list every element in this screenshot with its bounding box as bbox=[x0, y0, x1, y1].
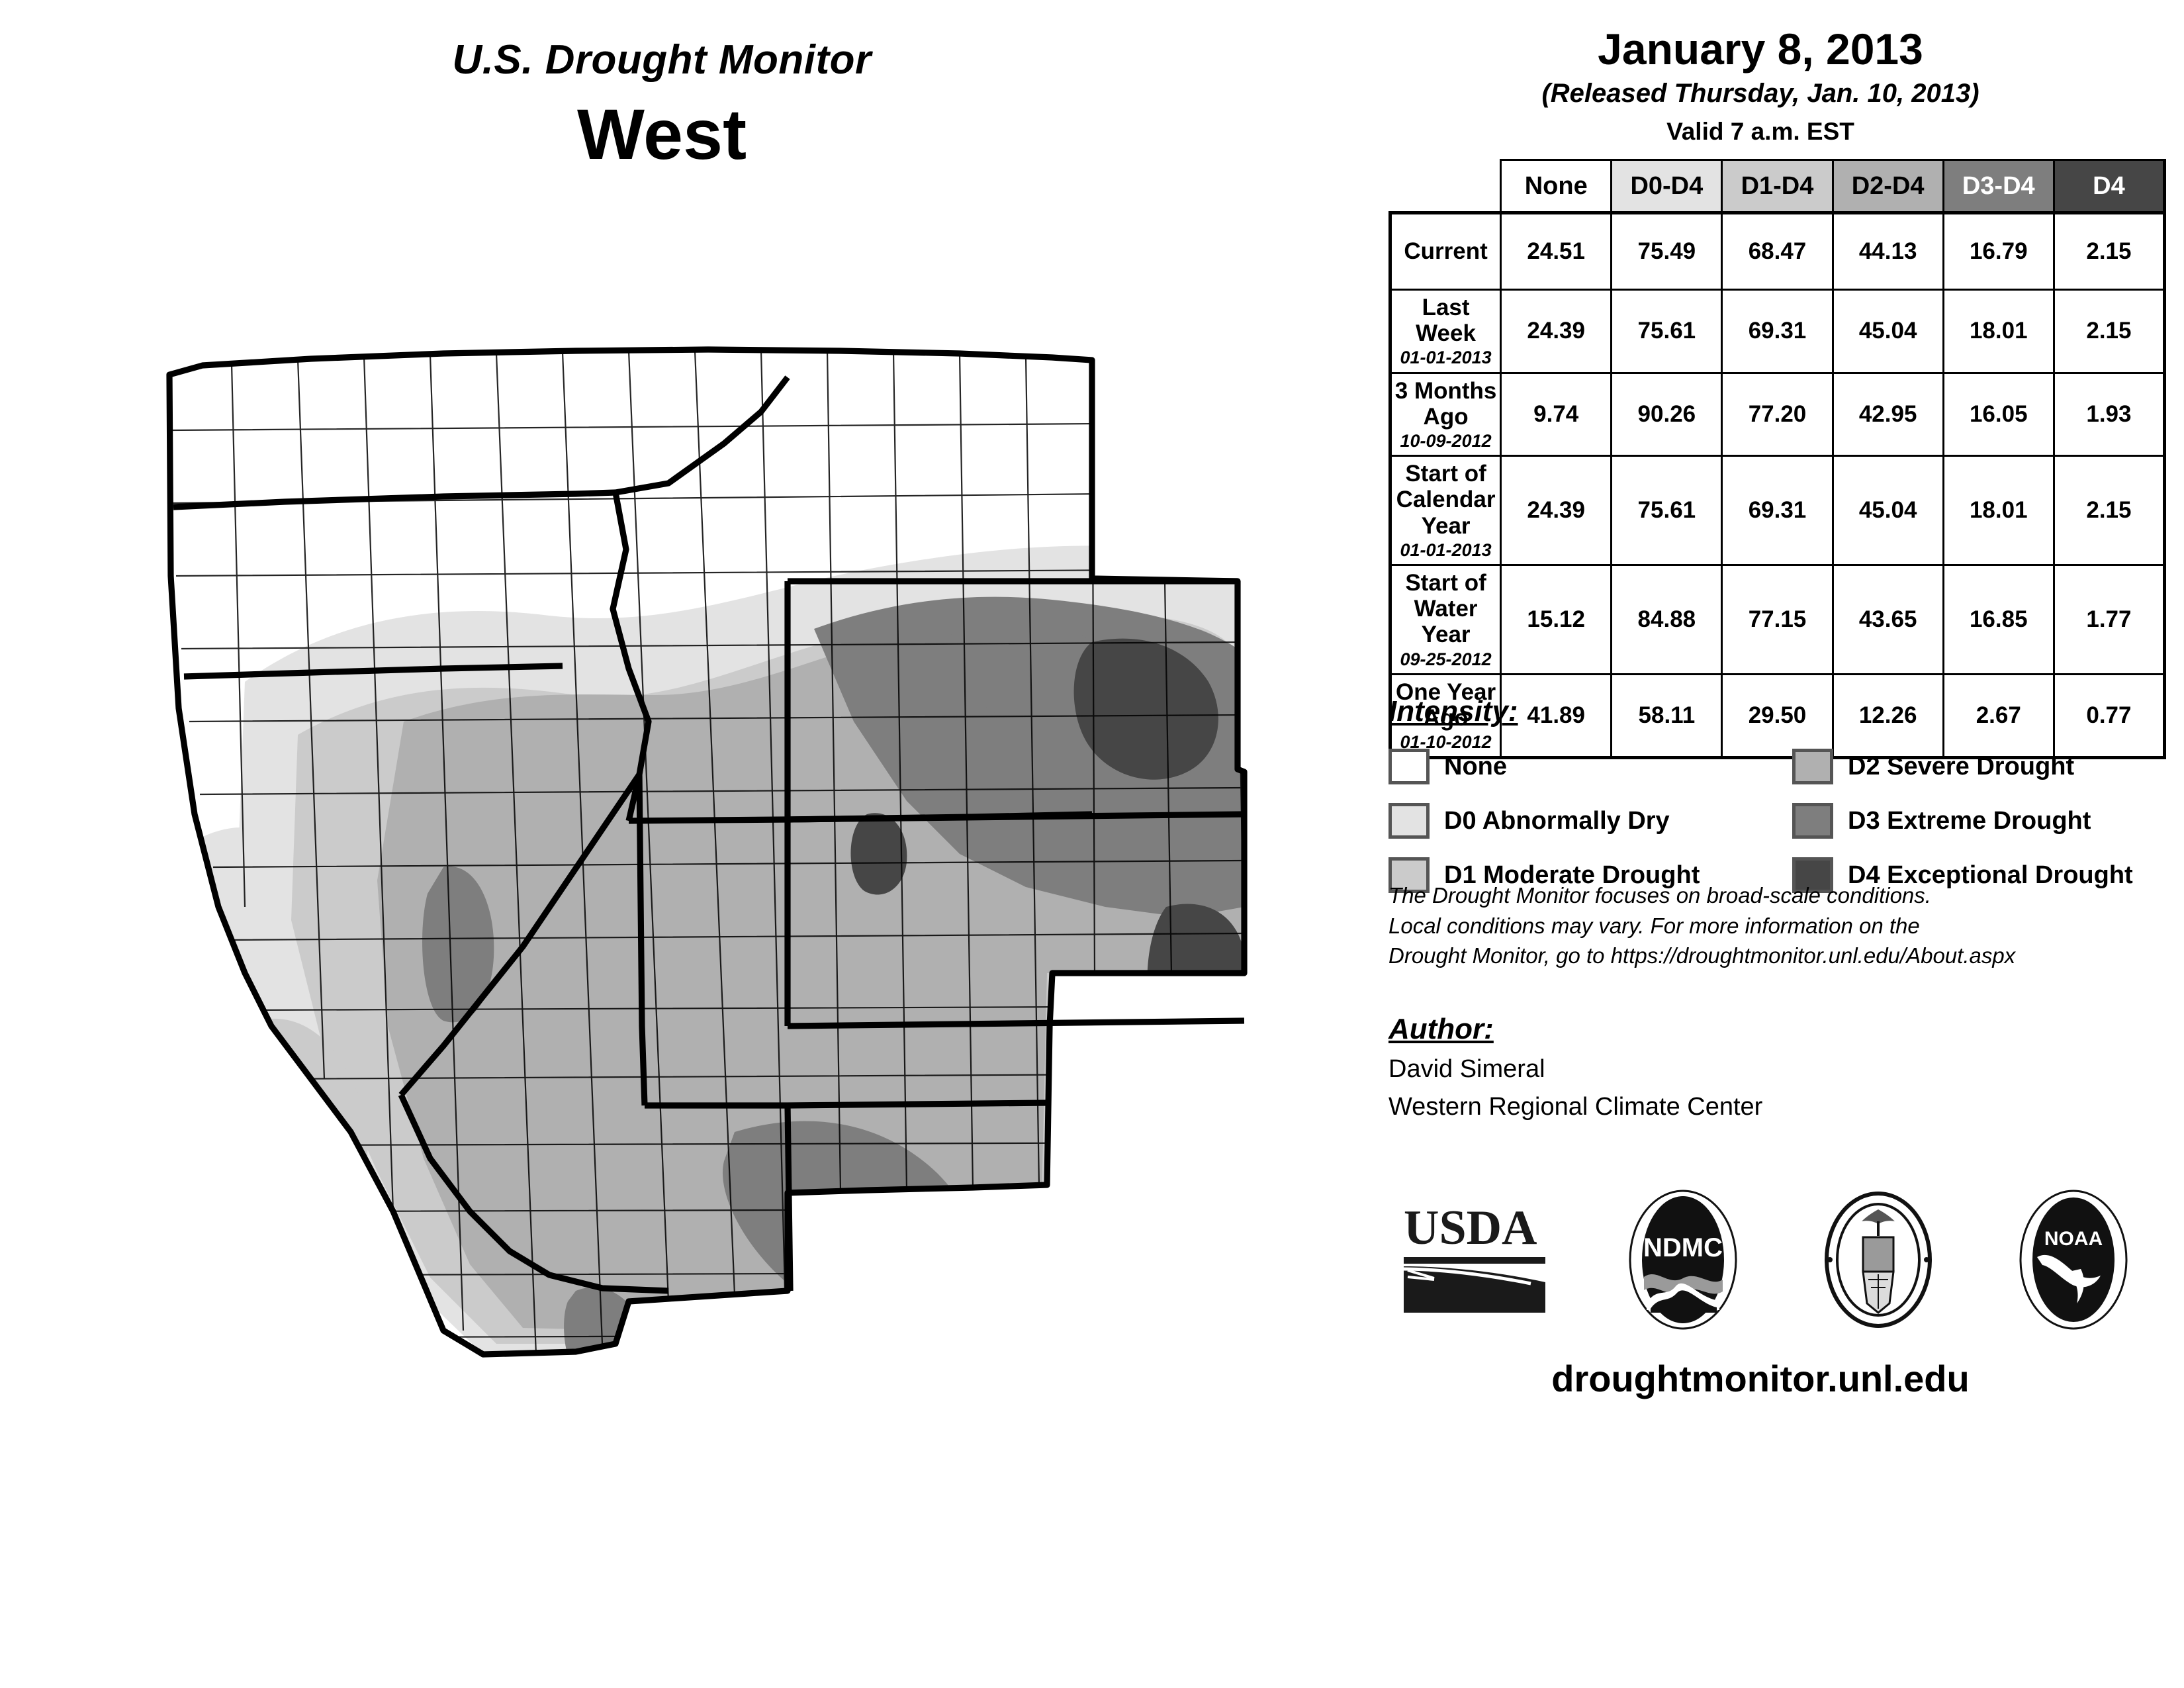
cell-lastweek-d2d4: 45.04 bbox=[1833, 290, 1943, 373]
cell-3months-none: 9.74 bbox=[1501, 373, 1612, 456]
legend-grid: None D2 Severe Drought D0 Abnormally Dry… bbox=[1388, 743, 2169, 899]
table-header: None D0-D4 D1-D4 D2-D4 D3-D4 D4 bbox=[1390, 160, 2165, 213]
cell-lastweek-none: 24.39 bbox=[1501, 290, 1612, 373]
column-header-d1-d4: D1-D4 bbox=[1722, 160, 1833, 213]
row-label-start-of-calendar-year: Start of Calendar Year 01-01-2013 bbox=[1390, 456, 1501, 565]
table-row: Last Week 01-01-2013 24.39 75.61 69.31 4… bbox=[1390, 290, 2165, 373]
column-header-none: None bbox=[1501, 160, 1612, 213]
row-label-text: Start of Calendar Year bbox=[1396, 461, 1496, 538]
disclaimer-text: The Drought Monitor focuses on broad-sca… bbox=[1388, 880, 2176, 971]
intensity-legend-title: Intensity: bbox=[1388, 695, 2169, 728]
legend-item-d3: D3 Extreme Drought bbox=[1792, 797, 2169, 845]
noaa-logo-svg: NOAA bbox=[2011, 1187, 2136, 1333]
released-line: (Released Thursday, Jan. 10, 2013) bbox=[1350, 79, 2171, 109]
drought-conditions-table: None D0-D4 D1-D4 D2-D4 D3-D4 D4 Current … bbox=[1388, 159, 2166, 759]
cell-current-d1d4: 68.47 bbox=[1722, 213, 1833, 290]
column-header-d4: D4 bbox=[2054, 160, 2164, 213]
cell-calyear-d1d4: 69.31 bbox=[1722, 456, 1833, 565]
row-label-date: 01-01-2013 bbox=[1394, 348, 1497, 367]
cell-3months-d2d4: 42.95 bbox=[1833, 373, 1943, 456]
release-date: January 8, 2013 bbox=[1350, 26, 2171, 72]
cell-lastweek-d4: 2.15 bbox=[2054, 290, 2164, 373]
table-row: Start of Water Year 09-25-2012 15.12 84.… bbox=[1390, 565, 2165, 675]
cell-wateryear-d1d4: 77.15 bbox=[1722, 565, 1833, 675]
table-row: Current 24.51 75.49 68.47 44.13 16.79 2.… bbox=[1390, 213, 2165, 290]
drought-map[interactable] bbox=[46, 285, 1343, 1582]
legend-swatch-none bbox=[1388, 749, 1430, 784]
column-header-d0-d4: D0-D4 bbox=[1612, 160, 1722, 213]
legend-label-d0: D0 Abnormally Dry bbox=[1444, 807, 1670, 835]
legend-label-none: None bbox=[1444, 753, 1507, 781]
row-label-text: Current bbox=[1404, 238, 1487, 264]
cell-current-d2d4: 44.13 bbox=[1833, 213, 1943, 290]
noaa-logo-text: NOAA bbox=[2044, 1228, 2102, 1250]
legend-item-d0: D0 Abnormally Dry bbox=[1388, 797, 1766, 845]
author-block: Author: David Simeral Western Regional C… bbox=[1388, 1013, 2176, 1121]
cell-wateryear-d4: 1.77 bbox=[2054, 565, 2164, 675]
legend-swatch-d2 bbox=[1792, 749, 1833, 784]
row-label-last-week: Last Week 01-01-2013 bbox=[1390, 290, 1501, 373]
cell-calyear-d4: 2.15 bbox=[2054, 456, 2164, 565]
cell-current-d0d4: 75.49 bbox=[1612, 213, 1722, 290]
drought-monitor-page: U.S. Drought Monitor West bbox=[0, 0, 2184, 1688]
doc-seal-svg bbox=[1815, 1187, 1941, 1333]
usda-logo[interactable]: USDA bbox=[1398, 1200, 1551, 1323]
cell-lastweek-d1d4: 69.31 bbox=[1722, 290, 1833, 373]
ndmc-logo-text: NDMC bbox=[1643, 1233, 1723, 1262]
cell-wateryear-d2d4: 43.65 bbox=[1833, 565, 1943, 675]
row-label-date: 01-01-2013 bbox=[1394, 540, 1497, 560]
cell-current-none: 24.51 bbox=[1501, 213, 1612, 290]
disclaimer-line-2: Local conditions may vary. For more info… bbox=[1388, 911, 2176, 941]
cell-lastweek-d3d4: 18.01 bbox=[1943, 290, 2054, 373]
usda-logo-svg: USDA bbox=[1398, 1200, 1551, 1319]
cell-current-d3d4: 16.79 bbox=[1943, 213, 2054, 290]
row-label-current: Current bbox=[1390, 213, 1501, 290]
header-spacer-cell bbox=[1390, 160, 1501, 213]
date-block: January 8, 2013 (Released Thursday, Jan.… bbox=[1350, 26, 2171, 146]
right-panel: January 8, 2013 (Released Thursday, Jan.… bbox=[1350, 26, 2171, 1668]
table-row: 3 Months Ago 10-09-2012 9.74 90.26 77.20… bbox=[1390, 373, 2165, 456]
legend-swatch-d0 bbox=[1388, 803, 1430, 839]
row-label-text: 3 Months Ago bbox=[1395, 378, 1497, 430]
disclaimer-line-1: The Drought Monitor focuses on broad-sca… bbox=[1388, 880, 2176, 911]
author-title: Author: bbox=[1388, 1013, 2176, 1046]
disclaimer-line-3: Drought Monitor, go to https://droughtmo… bbox=[1388, 941, 2176, 971]
ndmc-logo-svg: NDMC bbox=[1620, 1187, 1746, 1333]
legend-item-d2: D2 Severe Drought bbox=[1792, 743, 2169, 790]
cell-wateryear-d3d4: 16.85 bbox=[1943, 565, 2054, 675]
column-header-d2-d4: D2-D4 bbox=[1833, 160, 1943, 213]
row-label-start-of-water-year: Start of Water Year 09-25-2012 bbox=[1390, 565, 1501, 675]
valid-line: Valid 7 a.m. EST bbox=[1350, 118, 2171, 146]
cell-wateryear-d0d4: 84.88 bbox=[1612, 565, 1722, 675]
cell-3months-d1d4: 77.20 bbox=[1722, 373, 1833, 456]
ndmc-logo[interactable]: NDMC bbox=[1620, 1187, 1746, 1336]
department-of-commerce-seal[interactable] bbox=[1815, 1187, 1941, 1336]
page-title: U.S. Drought Monitor bbox=[0, 40, 1324, 81]
map-svg bbox=[46, 285, 1343, 1582]
cell-3months-d4: 1.93 bbox=[2054, 373, 2164, 456]
cell-3months-d0d4: 90.26 bbox=[1612, 373, 1722, 456]
intensity-legend: Intensity: None D2 Severe Drought D0 Abn… bbox=[1388, 695, 2169, 899]
title-block: U.S. Drought Monitor West bbox=[0, 40, 1324, 171]
author-name: David Simeral bbox=[1388, 1055, 2176, 1084]
cell-calyear-none: 24.39 bbox=[1501, 456, 1612, 565]
footer-url[interactable]: droughtmonitor.unl.edu bbox=[1350, 1357, 2171, 1400]
author-affiliation: Western Regional Climate Center bbox=[1388, 1093, 2176, 1121]
row-label-3-months-ago: 3 Months Ago 10-09-2012 bbox=[1390, 373, 1501, 456]
legend-label-d3: D3 Extreme Drought bbox=[1848, 807, 2091, 835]
legend-label-d2: D2 Severe Drought bbox=[1848, 753, 2074, 781]
legend-item-none: None bbox=[1388, 743, 1766, 790]
column-header-d3-d4: D3-D4 bbox=[1943, 160, 2054, 213]
region-title: West bbox=[0, 97, 1324, 171]
table-body: Current 24.51 75.49 68.47 44.13 16.79 2.… bbox=[1390, 213, 2165, 758]
cell-calyear-d3d4: 18.01 bbox=[1943, 456, 2054, 565]
row-label-text: Start of Water Year bbox=[1405, 570, 1486, 647]
table-header-row: None D0-D4 D1-D4 D2-D4 D3-D4 D4 bbox=[1390, 160, 2165, 213]
cell-3months-d3d4: 16.05 bbox=[1943, 373, 2054, 456]
cell-lastweek-d0d4: 75.61 bbox=[1612, 290, 1722, 373]
logo-row: USDA NDMC bbox=[1363, 1188, 2171, 1334]
row-label-date: 09-25-2012 bbox=[1394, 649, 1497, 669]
row-label-date: 10-09-2012 bbox=[1394, 431, 1497, 451]
legend-swatch-d3 bbox=[1792, 803, 1833, 839]
noaa-logo[interactable]: NOAA bbox=[2011, 1187, 2136, 1336]
row-label-text: Last Week bbox=[1416, 295, 1476, 346]
table-row: Start of Calendar Year 01-01-2013 24.39 … bbox=[1390, 456, 2165, 565]
usda-logo-text: USDA bbox=[1404, 1201, 1537, 1255]
cell-wateryear-none: 15.12 bbox=[1501, 565, 1612, 675]
cell-calyear-d2d4: 45.04 bbox=[1833, 456, 1943, 565]
cell-current-d4: 2.15 bbox=[2054, 213, 2164, 290]
cell-calyear-d0d4: 75.61 bbox=[1612, 456, 1722, 565]
